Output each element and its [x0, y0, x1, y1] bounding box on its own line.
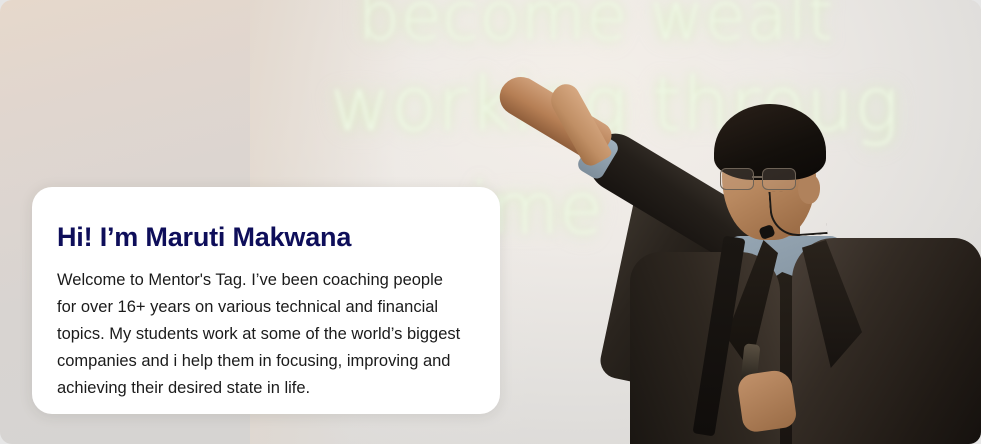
raised-forearm	[493, 69, 616, 165]
intro-paragraph: Welcome to Mentor's Tag. I’ve been coach…	[57, 267, 466, 402]
lens-left	[720, 168, 754, 190]
page-title: Hi! I’m Maruti Makwana	[57, 223, 466, 253]
speaker-head	[714, 104, 826, 240]
raised-hand	[545, 79, 613, 169]
hero-banner: become wealt working throug ime	[0, 0, 981, 444]
lens-right	[762, 168, 796, 190]
speaker-photo	[440, 0, 981, 444]
eyeglasses-icon	[720, 168, 804, 188]
glasses-bridge	[752, 176, 762, 178]
holding-hand	[736, 369, 798, 434]
intro-card: Hi! I’m Maruti Makwana Welcome to Mentor…	[32, 187, 500, 414]
